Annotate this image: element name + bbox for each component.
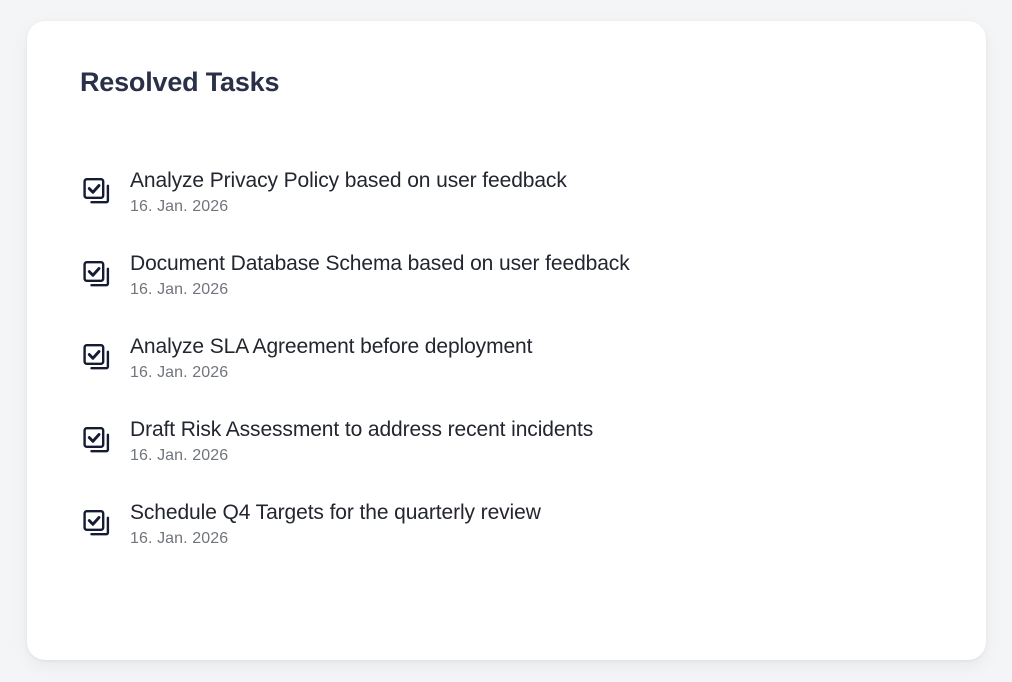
checked-copy-icon xyxy=(80,424,114,458)
resolved-tasks-list: Analyze Privacy Policy based on user fee… xyxy=(80,160,946,555)
list-item-text: Analyze Privacy Policy based on user fee… xyxy=(130,167,567,217)
checked-copy-icon xyxy=(80,175,114,209)
task-date: 16. Jan. 2026 xyxy=(130,363,532,383)
page-title: Resolved Tasks xyxy=(80,65,279,99)
task-date: 16. Jan. 2026 xyxy=(130,529,541,549)
list-item-text: Document Database Schema based on user f… xyxy=(130,250,630,300)
checked-copy-icon xyxy=(80,258,114,292)
task-date: 16. Jan. 2026 xyxy=(130,280,630,300)
checked-copy-icon xyxy=(80,341,114,375)
page-root: Resolved Tasks Analyze Privacy Policy ba… xyxy=(0,0,1012,682)
task-title: Draft Risk Assessment to address recent … xyxy=(130,416,593,443)
list-item[interactable]: Document Database Schema based on user f… xyxy=(80,243,946,306)
list-item[interactable]: Schedule Q4 Targets for the quarterly re… xyxy=(80,492,946,555)
task-date: 16. Jan. 2026 xyxy=(130,197,567,217)
checked-copy-icon xyxy=(80,507,114,541)
task-title: Schedule Q4 Targets for the quarterly re… xyxy=(130,499,541,526)
list-item[interactable]: Draft Risk Assessment to address recent … xyxy=(80,409,946,472)
list-item[interactable]: Analyze Privacy Policy based on user fee… xyxy=(80,160,946,223)
list-item-text: Schedule Q4 Targets for the quarterly re… xyxy=(130,499,541,549)
list-item-text: Draft Risk Assessment to address recent … xyxy=(130,416,593,466)
resolved-tasks-card: Resolved Tasks Analyze Privacy Policy ba… xyxy=(27,21,986,660)
task-title: Document Database Schema based on user f… xyxy=(130,250,630,277)
list-item-text: Analyze SLA Agreement before deployment … xyxy=(130,333,532,383)
list-item[interactable]: Analyze SLA Agreement before deployment … xyxy=(80,326,946,389)
task-date: 16. Jan. 2026 xyxy=(130,446,593,466)
task-title: Analyze SLA Agreement before deployment xyxy=(130,333,532,360)
task-title: Analyze Privacy Policy based on user fee… xyxy=(130,167,567,194)
